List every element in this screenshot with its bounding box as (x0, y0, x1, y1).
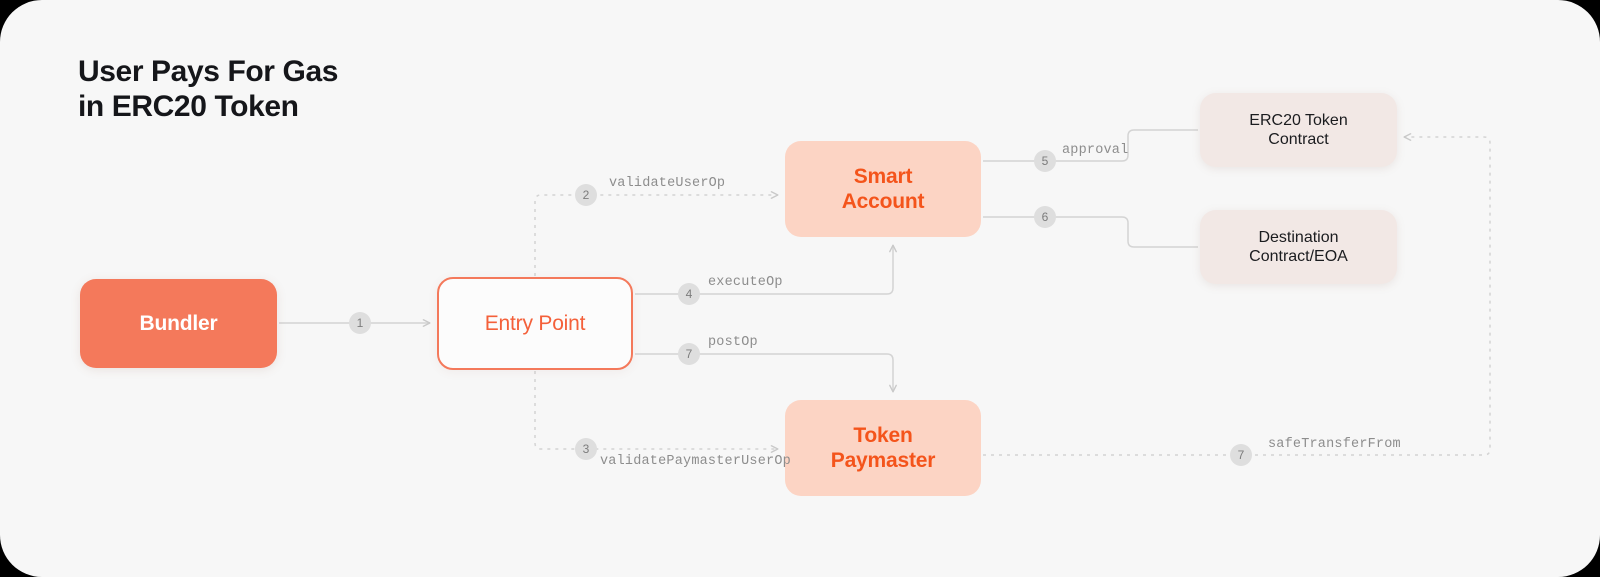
step-badge-7-safetransferfrom: 7 (1230, 444, 1252, 466)
step-badge-3: 3 (575, 438, 597, 460)
step-badge-2: 2 (575, 184, 597, 206)
edge-label-approval: approval (1062, 143, 1128, 158)
step-badge-5: 5 (1034, 150, 1056, 172)
node-entry-point[interactable]: Entry Point (437, 277, 633, 370)
node-erc20-token-contract-label: ERC20 Token Contract (1249, 111, 1347, 149)
step-badge-7-postop: 7 (678, 343, 700, 365)
edge-label-validateuserop: validateUserOp (609, 176, 725, 191)
edge-label-safetransferfrom: safeTransferFrom (1268, 437, 1401, 452)
edge-7-postop (635, 354, 893, 392)
step-badge-6: 6 (1034, 206, 1056, 228)
step-badge-1: 1 (349, 312, 371, 334)
edge-6-smartaccount-to-destination (983, 217, 1198, 247)
node-token-paymaster-label: Token Paymaster (831, 423, 935, 473)
edge-3-validatepaymasteruserop (535, 371, 778, 449)
edge-label-postop: postOp (708, 335, 758, 350)
edge-2-validateuserop (535, 195, 778, 276)
edge-7-safetransferfrom (983, 137, 1490, 455)
step-badge-4: 4 (678, 283, 700, 305)
diagram-card: User Pays For Gas in ERC20 Token (0, 0, 1600, 577)
node-token-paymaster[interactable]: Token Paymaster (785, 400, 981, 496)
node-bundler-label: Bundler (140, 311, 218, 336)
node-destination-contract[interactable]: Destination Contract/EOA (1200, 210, 1397, 284)
edge-label-executeop: executeOp (708, 275, 783, 290)
edge-label-validatepaymasteruserop: validatePaymasterUserOp (600, 454, 791, 469)
node-bundler[interactable]: Bundler (80, 279, 277, 368)
node-destination-contract-label: Destination Contract/EOA (1249, 228, 1348, 266)
node-entry-point-label: Entry Point (485, 311, 586, 336)
node-smart-account-label: Smart Account (842, 164, 925, 214)
node-smart-account[interactable]: Smart Account (785, 141, 981, 237)
node-erc20-token-contract[interactable]: ERC20 Token Contract (1200, 93, 1397, 167)
